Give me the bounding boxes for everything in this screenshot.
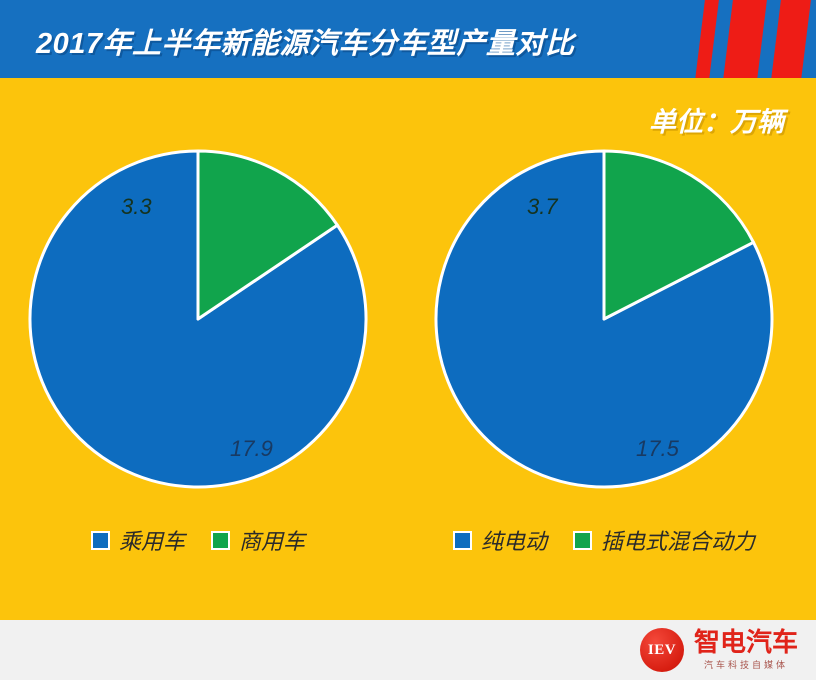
stripe-2	[722, 0, 768, 78]
brand-name: 智电汽车	[694, 629, 798, 656]
brand-tagline: 汽车科技自媒体	[694, 658, 798, 671]
pie-svg-2	[431, 146, 777, 492]
pie-2-legend: 纯电动 插电式混合动力	[424, 524, 784, 556]
pie-chart-block-1: 17.9 3.3 乘用车 商用车	[18, 146, 378, 576]
legend-item-passenger-vehicle[interactable]: 乘用车	[91, 524, 185, 556]
legend-label-phev: 插电式混合动力	[601, 524, 755, 556]
legend-label-bev: 纯电动	[481, 524, 547, 556]
pie-slices-2	[436, 151, 772, 487]
pie-1-legend: 乘用车 商用车	[18, 524, 378, 556]
stripe-3	[770, 0, 812, 78]
pie-chart-1: 17.9 3.3	[25, 146, 371, 492]
legend-item-commercial-vehicle[interactable]: 商用车	[211, 524, 305, 556]
header-stripes-decoration	[686, 0, 816, 78]
legend-swatch-blue-icon	[91, 531, 110, 550]
footer-bar: IEV 智电汽车 汽车科技自媒体	[0, 620, 816, 680]
infographic-poster: 2017年上半年新能源汽车分车型产量对比 单位：万辆 17.9 3.3 乘用车	[0, 0, 816, 680]
brand-text-block: 智电汽车 汽车科技自媒体	[694, 629, 798, 670]
legend-item-phev[interactable]: 插电式混合动力	[573, 524, 755, 556]
pie-slices-1	[30, 151, 366, 487]
header-bar: 2017年上半年新能源汽车分车型产量对比	[0, 0, 816, 78]
unit-label: 单位：万辆	[649, 100, 784, 139]
brand-logo: IEV 智电汽车 汽车科技自媒体	[640, 628, 798, 672]
iev-badge-icon: IEV	[640, 628, 684, 672]
legend-label-passenger-vehicle: 乘用车	[119, 524, 185, 556]
pie-chart-2: 17.5 3.7	[431, 146, 777, 492]
pie-chart-block-2: 17.5 3.7 纯电动 插电式混合动力	[424, 146, 784, 576]
chart-body-panel: 单位：万辆 17.9 3.3 乘用车 商用车	[0, 78, 816, 620]
page-title: 2017年上半年新能源汽车分车型产量对比	[36, 20, 575, 62]
legend-item-bev[interactable]: 纯电动	[453, 524, 547, 556]
pie-svg-1	[25, 146, 371, 492]
brand-badge-text: IEV	[648, 642, 676, 659]
legend-swatch-green-icon	[211, 531, 230, 550]
stripe-1	[694, 0, 720, 78]
legend-label-commercial-vehicle: 商用车	[239, 524, 305, 556]
legend-swatch-blue-icon	[453, 531, 472, 550]
legend-swatch-green-icon	[573, 531, 592, 550]
